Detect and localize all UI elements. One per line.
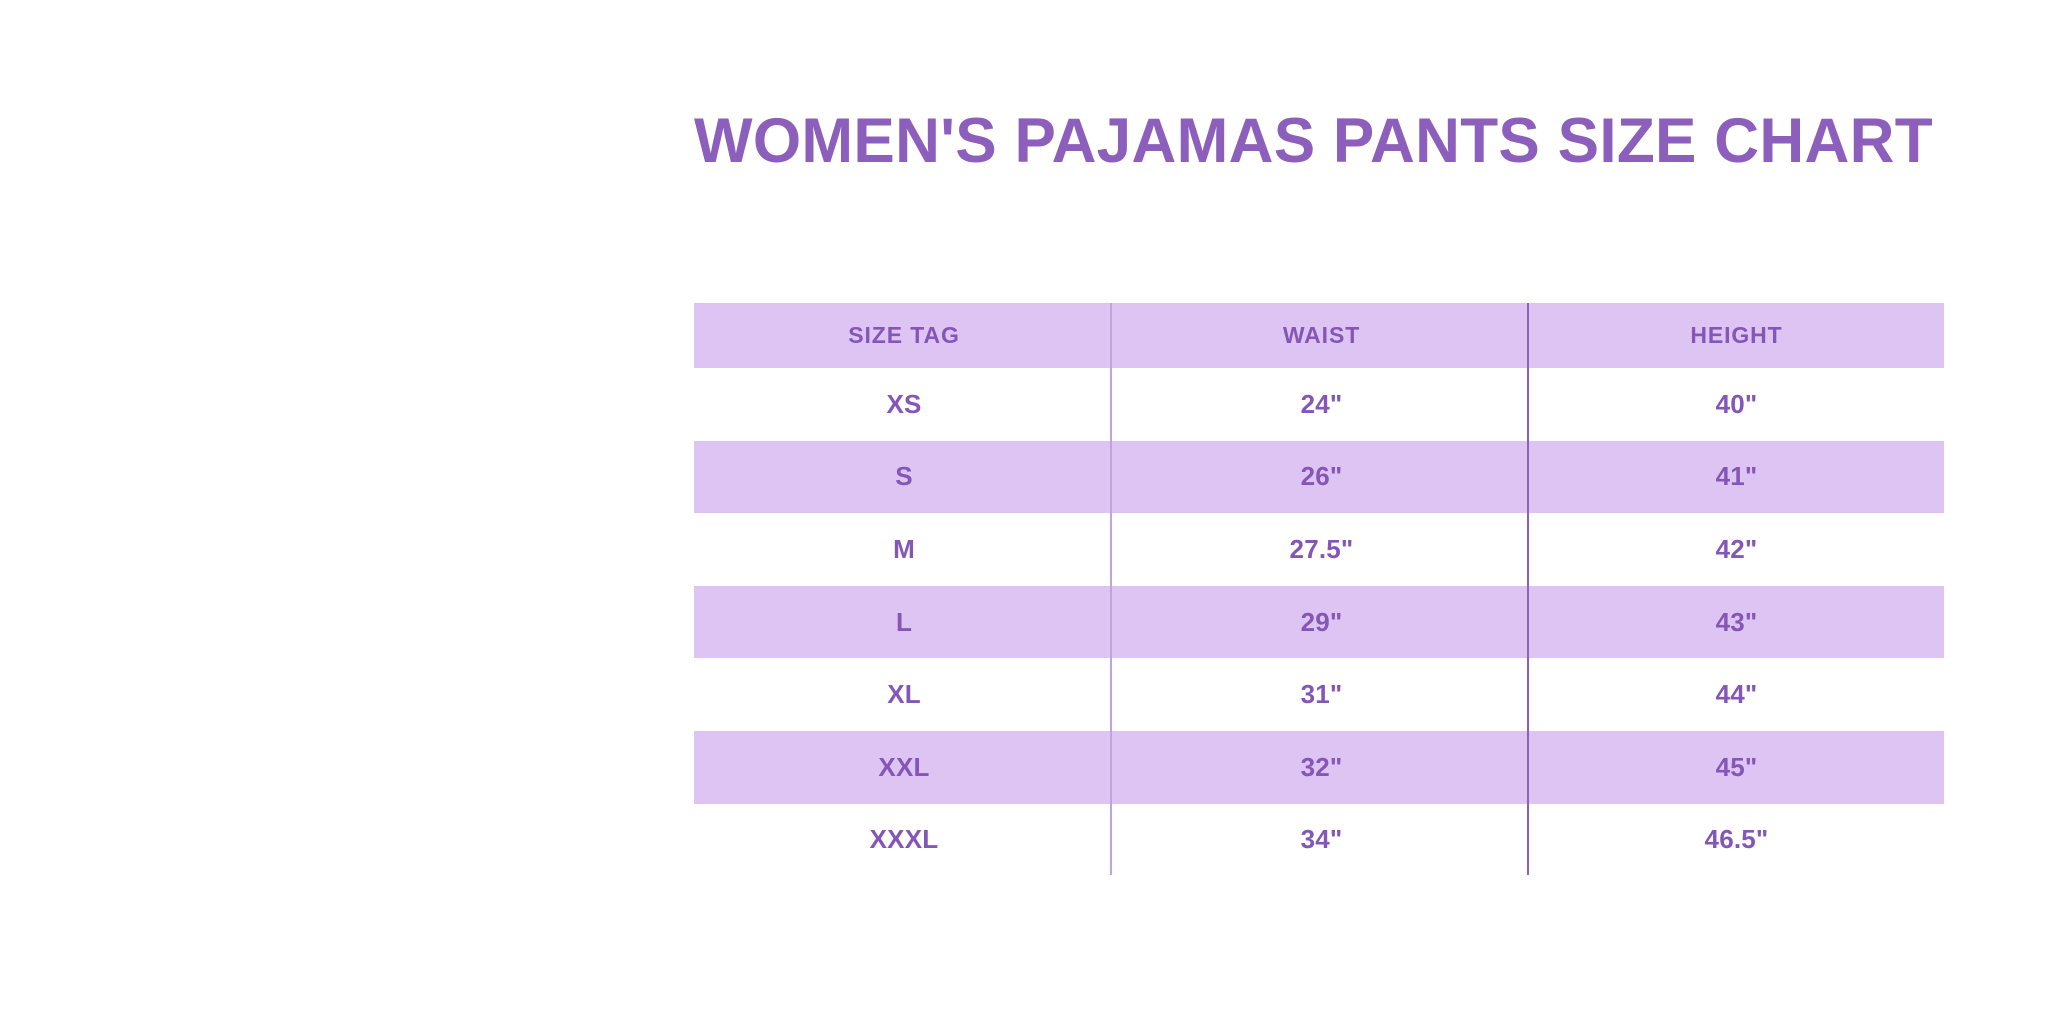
column-header-height: HEIGHT	[1529, 303, 1944, 368]
cell-waist: 34"	[1114, 804, 1529, 877]
cell-size-tag: L	[694, 586, 1114, 659]
cell-size-tag: XXXL	[694, 804, 1114, 877]
table-row: XXXL 34" 46.5"	[694, 804, 1944, 877]
cell-waist: 26"	[1114, 441, 1529, 514]
cell-height: 46.5"	[1529, 804, 1944, 877]
table-row: L 29" 43"	[694, 586, 1944, 659]
cell-waist: 31"	[1114, 658, 1529, 731]
table-header: SIZE TAG WAIST HEIGHT	[694, 303, 1944, 368]
cell-height: 41"	[1529, 441, 1944, 514]
cell-height: 45"	[1529, 731, 1944, 804]
page-title: WOMEN'S PAJAMAS PANTS SIZE CHART	[694, 104, 2004, 182]
cell-height: 44"	[1529, 658, 1944, 731]
table-row: M 27.5" 42"	[694, 513, 1944, 586]
cell-height: 43"	[1529, 586, 1944, 659]
column-header-size-tag: SIZE TAG	[694, 303, 1114, 368]
cell-waist: 24"	[1114, 368, 1529, 441]
table-row: XXL 32" 45"	[694, 731, 1944, 804]
table-header-row: SIZE TAG WAIST HEIGHT	[694, 303, 1944, 368]
cell-height: 42"	[1529, 513, 1944, 586]
cell-waist: 27.5"	[1114, 513, 1529, 586]
cell-size-tag: M	[694, 513, 1114, 586]
cell-size-tag: S	[694, 441, 1114, 514]
cell-size-tag: XL	[694, 658, 1114, 731]
size-chart-table: SIZE TAG WAIST HEIGHT XS 24" 40" S 26" 4…	[694, 303, 1944, 876]
cell-waist: 29"	[1114, 586, 1529, 659]
size-chart-table-container: SIZE TAG WAIST HEIGHT XS 24" 40" S 26" 4…	[694, 303, 1944, 875]
table-row: XS 24" 40"	[694, 368, 1944, 441]
column-header-waist: WAIST	[1114, 303, 1529, 368]
table-row: XL 31" 44"	[694, 658, 1944, 731]
cell-size-tag: XXL	[694, 731, 1114, 804]
cell-size-tag: XS	[694, 368, 1114, 441]
cell-waist: 32"	[1114, 731, 1529, 804]
table-body: XS 24" 40" S 26" 41" M 27.5" 42" L 29" 4…	[694, 368, 1944, 876]
cell-height: 40"	[1529, 368, 1944, 441]
table-row: S 26" 41"	[694, 441, 1944, 514]
